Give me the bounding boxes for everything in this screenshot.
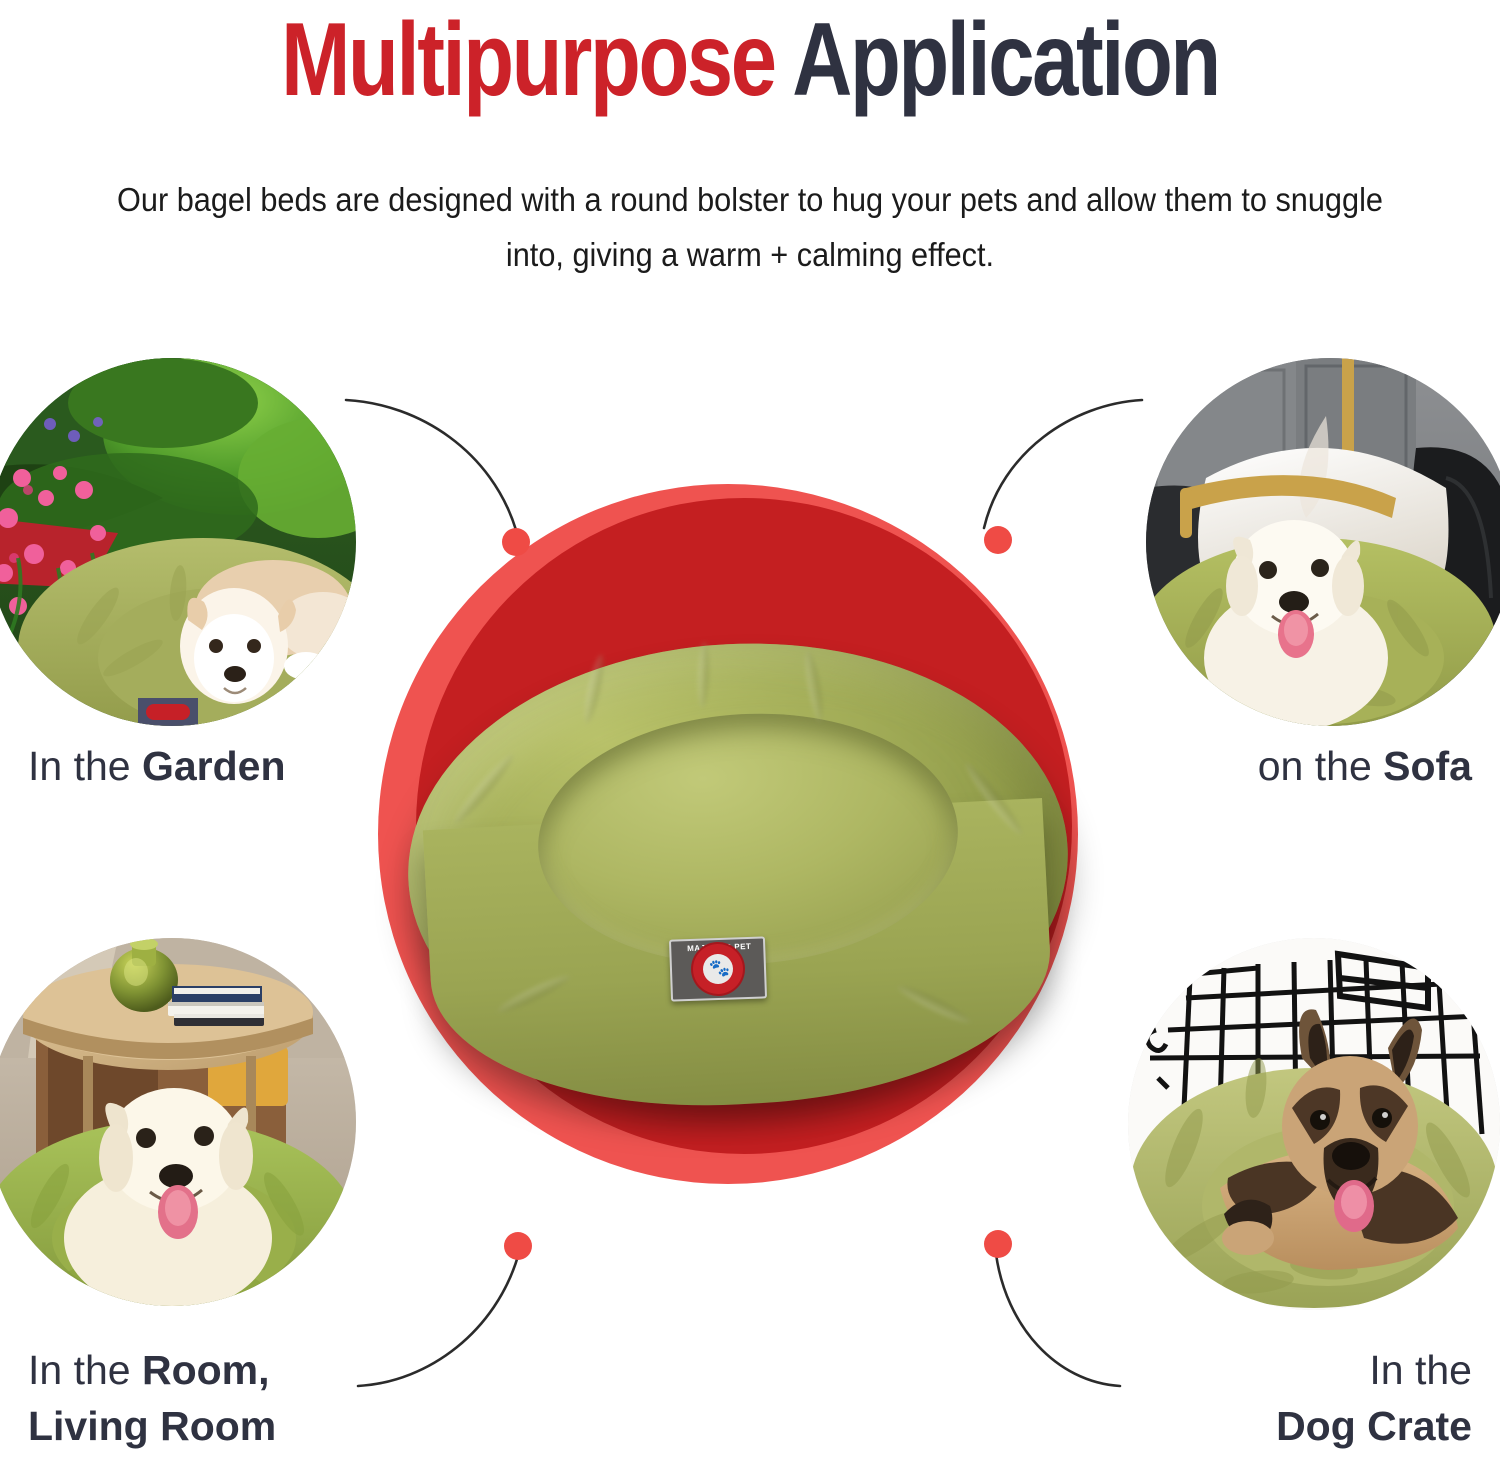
- callout-dot-living-room: [504, 1232, 532, 1260]
- callout-label-garden: In the Garden: [28, 738, 358, 794]
- callout-label-dog-crate-prefix: In the: [1369, 1347, 1472, 1393]
- callout-label-dog-crate-bold: Dog Crate: [1276, 1403, 1472, 1449]
- callout-photo-garden: [0, 358, 356, 726]
- callout-photo-living-room: [0, 938, 356, 1306]
- title-word-application: Application: [792, 2, 1219, 118]
- callout-dot-dog-crate: [984, 1230, 1012, 1258]
- callout-label-sofa: on the Sofa: [1142, 738, 1472, 794]
- header-section: Multipurpose Application Our bagel beds …: [0, 0, 1500, 300]
- product-image-dog-bed: MAJESTIC PET 🐾: [408, 624, 1098, 1124]
- callout-label-living-room-prefix: In the: [28, 1347, 142, 1393]
- callout-photo-sofa: [1146, 358, 1500, 726]
- callout-label-living-room: In the Room, Living Room: [28, 1342, 358, 1454]
- title-word-multipurpose: Multipurpose: [281, 2, 774, 118]
- brand-tag: MAJESTIC PET 🐾: [669, 936, 767, 1001]
- callout-label-dog-crate: In the Dog Crate: [1142, 1342, 1472, 1454]
- paw-print-icon: 🐾: [709, 960, 731, 979]
- page-subtitle: Our bagel beds are designed with a round…: [99, 172, 1401, 282]
- page-title: Multipurpose Application: [150, 8, 1350, 112]
- center-product-badge: MAJESTIC PET 🐾: [378, 484, 1118, 1224]
- callout-photo-dog-crate: [1128, 938, 1500, 1310]
- connector-line-dog-crate: [996, 1254, 1120, 1386]
- callout-label-sofa-prefix: on the: [1258, 743, 1383, 789]
- callout-label-sofa-bold: Sofa: [1383, 743, 1472, 789]
- callout-label-garden-prefix: In the: [28, 743, 142, 789]
- callout-dot-garden: [502, 528, 530, 556]
- callout-label-garden-bold: Garden: [142, 743, 286, 789]
- connector-line-living-room: [358, 1256, 518, 1386]
- callout-dot-sofa: [984, 526, 1012, 554]
